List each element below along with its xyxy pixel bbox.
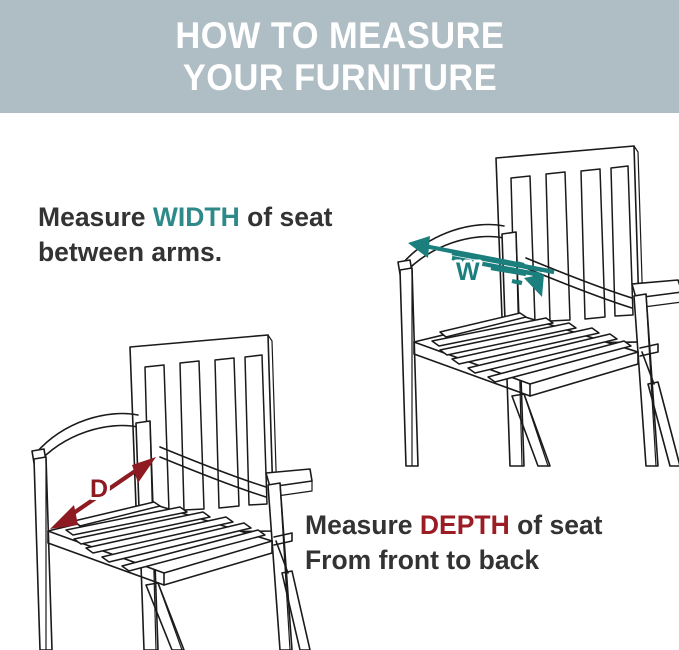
caption-width-line-1: Measure WIDTH of seat xyxy=(38,200,333,235)
chair-back-slat-opening-3 xyxy=(581,169,605,319)
caption-width: Measure WIDTH of seat between arms. xyxy=(38,200,333,270)
chair-rear-leg-center-edge xyxy=(158,583,182,650)
chair-back-slat-opening-2 xyxy=(546,172,570,321)
caption-depth-suffix: of seat xyxy=(510,510,603,540)
caption-depth-line-2: From front to back xyxy=(305,543,603,578)
caption-width-suffix: of seat xyxy=(240,202,333,232)
chair-back-slat-opening-2 xyxy=(180,361,204,510)
depth-label: D xyxy=(90,475,108,503)
chair-front-leg-left xyxy=(400,268,418,466)
header-title-line-1: HOW TO MEASURE xyxy=(175,15,504,56)
chair-rear-leg-center-edge xyxy=(524,394,548,466)
chair-illustration-width: W W xyxy=(396,136,679,466)
caption-depth: Measure DEPTH of seat From front to back xyxy=(305,508,603,578)
chair-illustration-depth: D D xyxy=(22,325,312,650)
chair-front-leg-left xyxy=(34,457,52,650)
caption-width-line-2: between arms. xyxy=(38,235,333,270)
caption-depth-prefix: Measure xyxy=(305,510,420,540)
caption-width-prefix: Measure xyxy=(38,202,153,232)
depth-arrow-head-left xyxy=(50,505,78,529)
caption-depth-keyword: DEPTH xyxy=(420,510,510,540)
header-banner: HOW TO MEASURE YOUR FURNITURE xyxy=(0,0,679,113)
width-label: W xyxy=(456,258,480,286)
depth-label-group: D D xyxy=(90,475,108,503)
caption-width-keyword: WIDTH xyxy=(153,202,240,232)
width-label-group: W W xyxy=(456,258,480,286)
chair-arm-left-rail xyxy=(36,414,138,453)
header-title-line-2: YOUR FURNITURE xyxy=(182,57,496,98)
width-arrow-shaft-right-ext xyxy=(512,281,521,283)
chair-arm-left-rail-lower xyxy=(36,426,138,465)
caption-depth-line-1: Measure DEPTH of seat xyxy=(305,508,603,543)
chair-back-slat-opening-3 xyxy=(215,358,239,508)
